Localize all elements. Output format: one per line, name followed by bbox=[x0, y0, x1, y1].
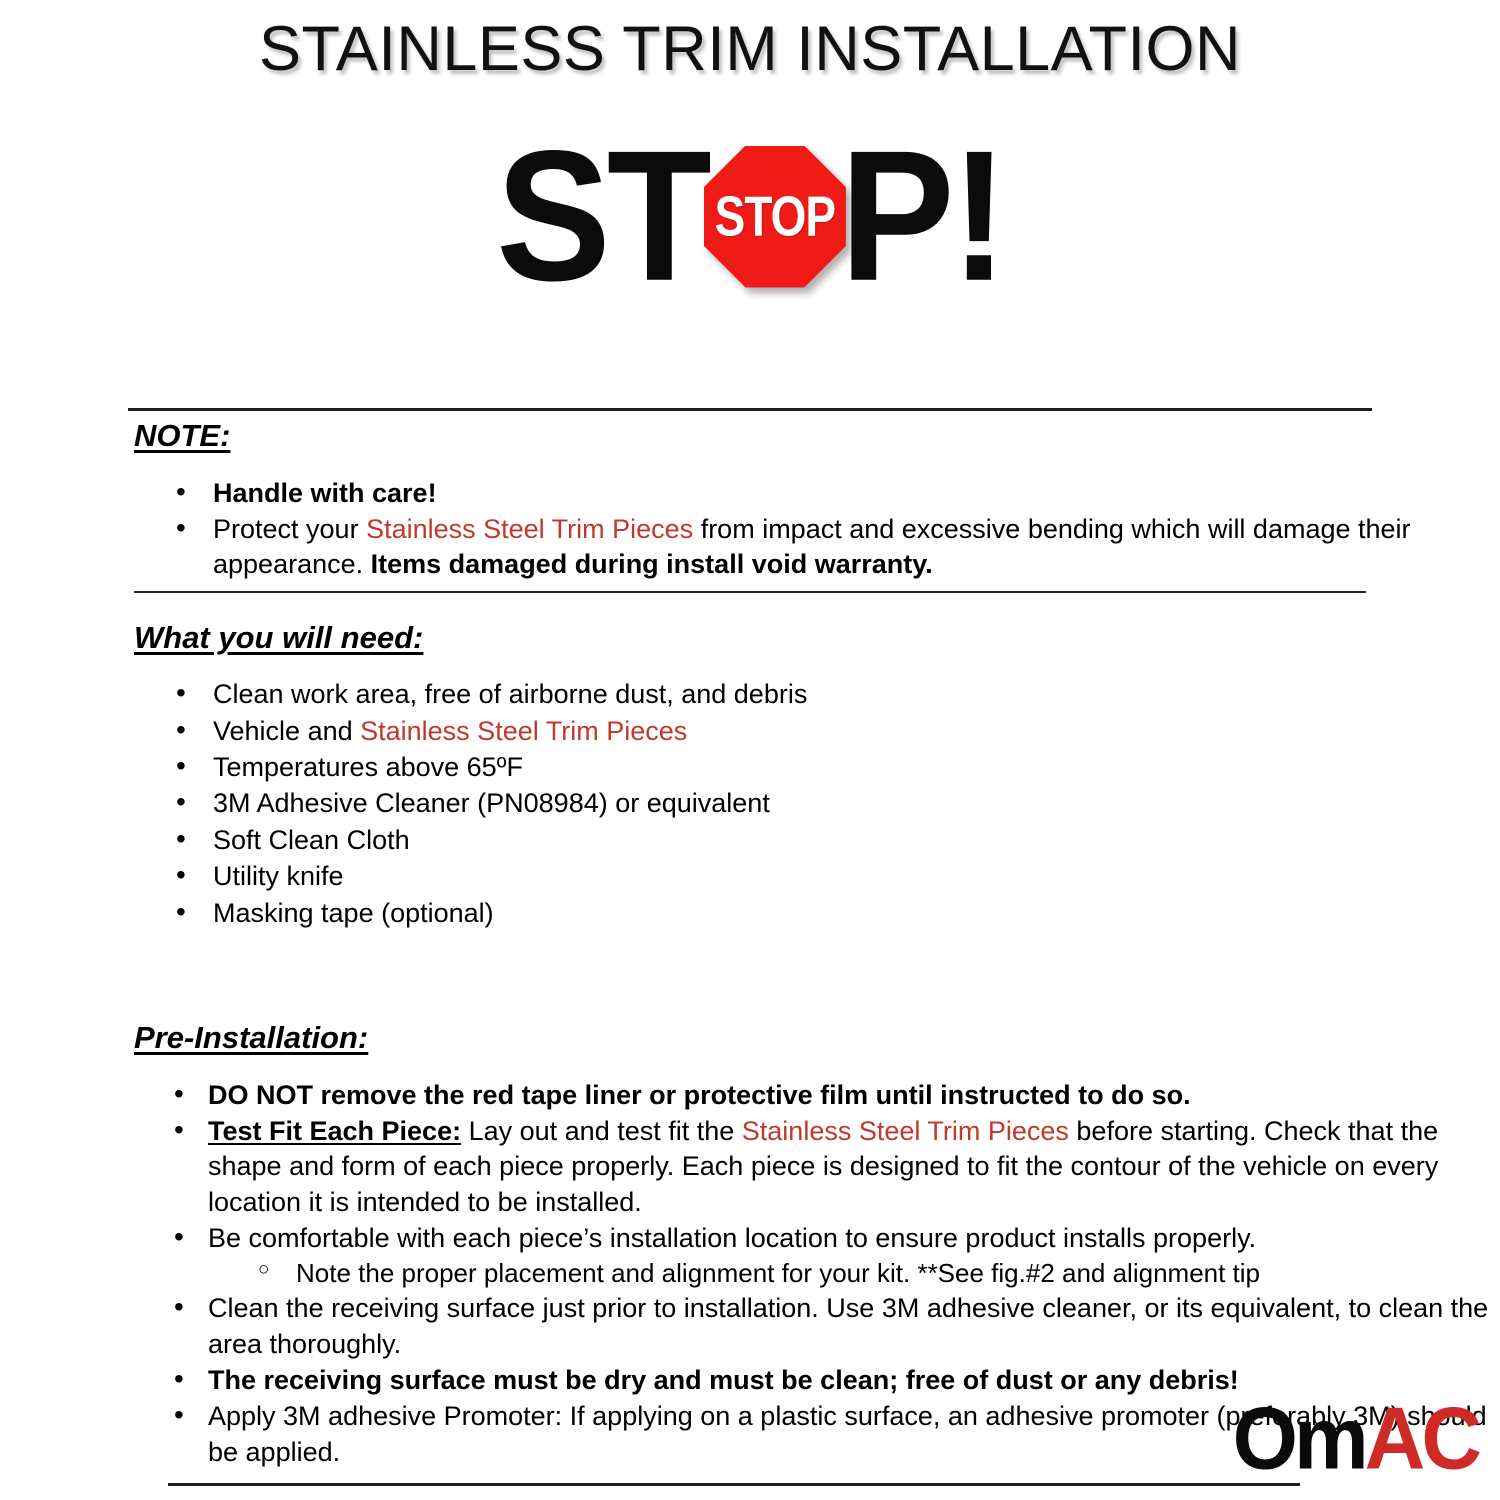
omac-brand-logo: OmAC bbox=[1233, 1394, 1478, 1482]
list-item-text: Masking tape (optional) bbox=[213, 898, 494, 928]
list-item-text: 3M Adhesive Cleaner (PN08984) or equival… bbox=[213, 788, 770, 818]
list-item-text: Stainless Steel Trim Pieces bbox=[360, 716, 687, 746]
stop-sign-label: STOP bbox=[704, 129, 846, 302]
list-item: Masking tape (optional) bbox=[0, 896, 1500, 931]
list-item: Test Fit Each Piece: Lay out and test fi… bbox=[0, 1114, 1500, 1220]
section-heading-needs: What you will need: bbox=[0, 620, 1500, 656]
note-bullet-list: Handle with care!Protect your Stainless … bbox=[0, 476, 1500, 583]
sub-list-item: Note the proper placement and alignment … bbox=[208, 1256, 1500, 1290]
omac-logo-part-two: AC bbox=[1365, 1389, 1478, 1488]
section-heading-preinstall: Pre-Installation: bbox=[0, 1020, 1500, 1056]
list-item-text: Stainless Steel Trim Pieces bbox=[742, 1116, 1069, 1146]
divider-top bbox=[128, 408, 1372, 411]
stop-logo-left-letters: ST bbox=[496, 138, 708, 296]
list-item: Clean the receiving surface just prior t… bbox=[0, 1291, 1500, 1362]
list-item-text: The receiving surface must be dry and mu… bbox=[208, 1365, 1239, 1395]
list-item-text: Lay out and test fit the bbox=[461, 1116, 742, 1146]
list-item: Handle with care! bbox=[0, 476, 1500, 511]
divider-bottom bbox=[168, 1483, 1300, 1486]
list-item-text: Clean work area, free of airborne dust, … bbox=[213, 679, 807, 709]
list-item-text: Vehicle and bbox=[213, 716, 360, 746]
list-item: 3M Adhesive Cleaner (PN08984) or equival… bbox=[0, 786, 1500, 821]
list-item-text: DO NOT remove the red tape liner or prot… bbox=[208, 1080, 1191, 1110]
stop-sign-icon: STOP bbox=[704, 146, 846, 288]
stop-logo-right-letters: P! bbox=[840, 138, 1004, 296]
list-item-text: Protect your bbox=[213, 514, 366, 544]
list-item: DO NOT remove the red tape liner or prot… bbox=[0, 1078, 1500, 1113]
section-heading-note: NOTE: bbox=[0, 418, 1500, 454]
list-item-text: Temperatures above 65ºF bbox=[213, 752, 523, 782]
list-item: Clean work area, free of airborne dust, … bbox=[0, 677, 1500, 712]
list-item-text: Utility knife bbox=[213, 861, 344, 891]
list-item: Temperatures above 65ºF bbox=[0, 750, 1500, 785]
sub-bullet-list: Note the proper placement and alignment … bbox=[208, 1256, 1500, 1290]
list-item: Utility knife bbox=[0, 859, 1500, 894]
list-item-text: Items damaged during install void warran… bbox=[371, 549, 933, 579]
list-item-text: Be comfortable with each piece’s install… bbox=[208, 1223, 1256, 1253]
list-item: Soft Clean Cloth bbox=[0, 823, 1500, 858]
page-title: STAINLESS TRIM INSTALLATION bbox=[0, 0, 1500, 81]
list-item: Vehicle and Stainless Steel Trim Pieces bbox=[0, 714, 1500, 749]
list-item-text: Soft Clean Cloth bbox=[213, 825, 410, 855]
document-body: NOTE: Handle with care!Protect your Stai… bbox=[0, 418, 1500, 1471]
omac-logo-part-one: Om bbox=[1233, 1389, 1365, 1488]
needs-bullet-list: Clean work area, free of airborne dust, … bbox=[0, 677, 1500, 931]
list-item-text: Stainless Steel Trim Pieces bbox=[366, 514, 693, 544]
list-item: Be comfortable with each piece’s install… bbox=[0, 1221, 1500, 1290]
list-item-text: Clean the receiving surface just prior t… bbox=[208, 1293, 1488, 1358]
list-item: Protect your Stainless Steel Trim Pieces… bbox=[0, 512, 1500, 583]
stop-logo: ST STOP P! bbox=[0, 129, 1500, 304]
list-item-text: Test Fit Each Piece: bbox=[208, 1116, 461, 1146]
list-item-text: Handle with care! bbox=[213, 478, 437, 508]
